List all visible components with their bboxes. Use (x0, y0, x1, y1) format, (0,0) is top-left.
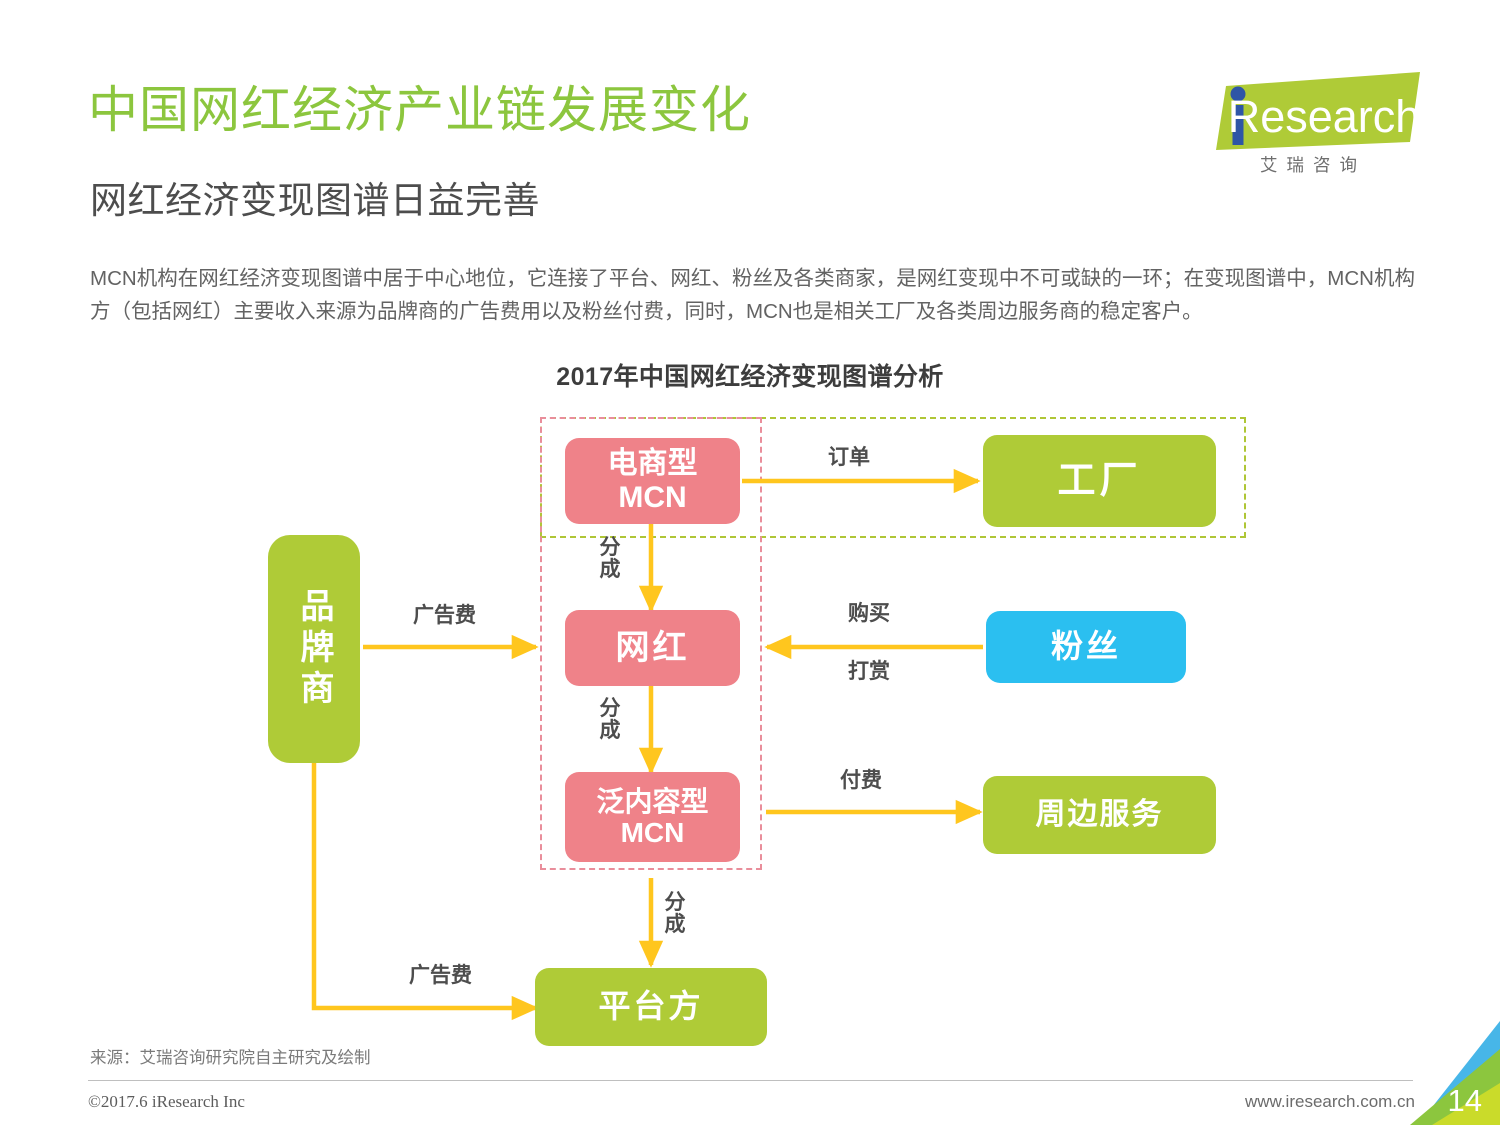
body-paragraph: MCN机构在网红经济变现图谱中居于中心地位，它连接了平台、网红、粉丝及各类商家，… (90, 262, 1415, 328)
node-fans[interactable]: 粉丝 (986, 611, 1186, 683)
edge-label-ad-fee-top: 广告费 (413, 605, 476, 626)
page-title: 中国网红经济产业链发展变化 (88, 82, 751, 138)
node-brand-label: 品牌商 (297, 588, 331, 711)
edge-label-share-mid: 分成 (598, 698, 622, 742)
node-ecommerce-mcn-line1: 电商型 (608, 447, 698, 481)
footer-divider (88, 1080, 1413, 1081)
logo-chinese-name: 艾瑞咨询 (1214, 152, 1412, 177)
node-platform-label: 平台方 (598, 989, 703, 1025)
slide-canvas: 中国网红经济产业链发展变化 网红经济变现图谱日益完善 MCN机构在网红经济变现图… (0, 0, 1500, 1125)
edge-label-tip: 打赏 (848, 661, 890, 682)
node-ecommerce-mcn-line2: MCN (608, 481, 698, 515)
node-fans-label: 粉丝 (1051, 629, 1121, 665)
node-influencer-label: 网红 (616, 629, 690, 667)
node-factory[interactable]: 工厂 (983, 435, 1216, 527)
node-ecommerce-mcn[interactable]: 电商型 MCN (565, 438, 740, 524)
node-platform[interactable]: 平台方 (535, 968, 767, 1046)
edge-label-pay: 付费 (840, 770, 882, 791)
diagram-arrows (0, 395, 1500, 1055)
source-note: 来源：艾瑞咨询研究院自主研究及绘制 (90, 1044, 371, 1068)
corner-decoration (1380, 1009, 1500, 1125)
node-influencer[interactable]: 网红 (565, 610, 740, 686)
chart-title: 2017年中国网红经济变现图谱分析 (0, 357, 1500, 393)
node-peripheral-services[interactable]: 周边服务 (983, 776, 1216, 854)
node-content-mcn-line1: 泛内容型 (596, 786, 708, 817)
copyright-text: ©2017.6 iResearch Inc (88, 1092, 245, 1112)
logo-wordmark: Research (1228, 91, 1421, 142)
edge-label-buy: 购买 (848, 603, 890, 624)
page-subtitle: 网红经济变现图谱日益完善 (90, 180, 540, 223)
edge-label-share-top: 分成 (598, 537, 622, 581)
monetization-map-diagram: 电商型 MCN 工厂 品牌商 网红 粉丝 泛内容型 MCN 周边服务 平台方 (0, 395, 1500, 1055)
edge-label-order: 订单 (828, 447, 870, 468)
node-content-mcn[interactable]: 泛内容型 MCN (565, 772, 740, 862)
node-brand[interactable]: 品牌商 (268, 535, 360, 763)
node-peripheral-services-label: 周边服务 (1036, 798, 1164, 832)
node-content-mcn-line2: MCN (596, 817, 708, 848)
node-factory-label: 工厂 (1057, 460, 1141, 503)
page-number: 14 (1448, 1083, 1482, 1119)
edge-label-ad-fee-bottom: 广告费 (409, 965, 472, 986)
edge-label-share-bottom: 分成 (663, 892, 687, 936)
iresearch-logo: Research 艾瑞咨询 (1198, 64, 1428, 179)
